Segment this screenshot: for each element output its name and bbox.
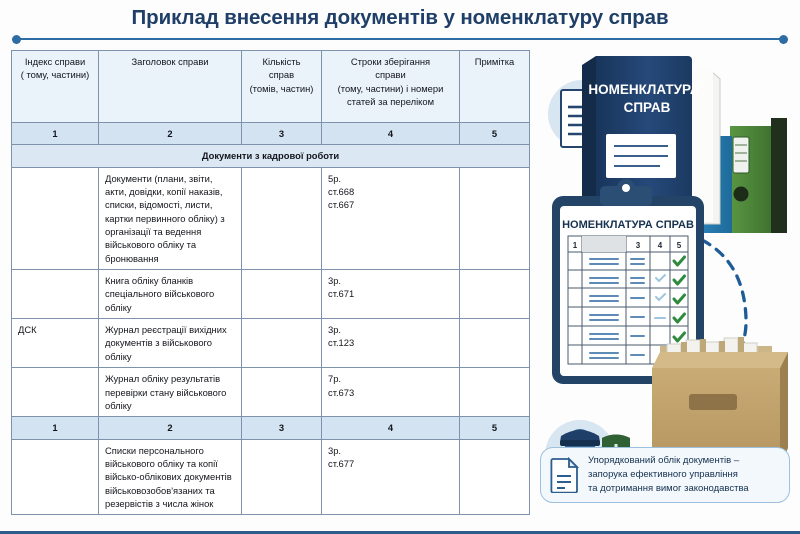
column-number-3: 3: [242, 123, 322, 145]
table-body: Документи з кадрової роботиДокументи (пл…: [12, 145, 530, 515]
table-number-row: 12345: [12, 417, 530, 439]
table-row: Книга обліку бланків спеціального військ…: [12, 270, 530, 319]
cell-terms: 3р.ст.123: [322, 319, 460, 368]
cell-index: [12, 167, 99, 269]
binder-label-line1: НОМЕНКЛАТУРА: [588, 82, 700, 97]
table-number-row: 1 2 3 4 5: [12, 123, 530, 145]
term-line: 7р.: [328, 372, 453, 385]
cell-count: [242, 167, 322, 269]
term-line: ст.677: [328, 457, 453, 470]
clipboard-title: НОМЕНКЛАТУРА СПРАВ: [562, 219, 694, 231]
term-line: ст.671: [328, 287, 453, 300]
title-divider: [12, 35, 788, 44]
summary-callout: Упорядкований облік документів – запорук…: [540, 447, 790, 503]
nomenclature-table: Індекс справи( тому, частини) Заголовок …: [11, 50, 530, 515]
callout-line-1: Упорядкований облік документів –: [588, 454, 749, 468]
binder-green-icon: [730, 118, 787, 233]
table-row: Журнал обліку результатів перевірки стан…: [12, 368, 530, 417]
column-number-4: 4: [322, 123, 460, 145]
column-header-count: Кількістьсправ(томів, частин): [242, 51, 322, 123]
cell-index: [12, 368, 99, 417]
cell-count: [242, 270, 322, 319]
clipboard-col-1: 1: [573, 241, 578, 250]
column-number-1: 1: [12, 123, 99, 145]
divider-dot-right: [779, 35, 788, 44]
cell-terms: 3р.ст.671: [322, 270, 460, 319]
cell-terms: 3р.ст.677: [322, 439, 460, 515]
clipboard-col-5: 5: [677, 241, 682, 250]
cell-terms: 7р.ст.673: [322, 368, 460, 417]
cell-index: [12, 270, 99, 319]
column-number-2: 2: [99, 123, 242, 145]
cell-title: Книга обліку бланків спеціального військ…: [99, 270, 242, 319]
column-header-title: Заголовок справи: [99, 51, 242, 123]
term-line: 3р.: [328, 274, 453, 287]
column-header-index: Індекс справи( тому, частини): [12, 51, 99, 123]
cell-title: Документи (плани, звіти, акти, довідки, …: [99, 167, 242, 269]
term-line: ст.123: [328, 336, 453, 349]
clipboard-col-4: 4: [658, 241, 663, 250]
table-header-row: Індекс справи( тому, частини) Заголовок …: [12, 51, 530, 123]
term-line: ст.673: [328, 386, 453, 399]
callout-line-3: та дотримання вимог законодавства: [588, 482, 749, 496]
column-number-5: 5: [460, 123, 530, 145]
cell-note: [460, 270, 530, 319]
column-number-2: 2: [99, 417, 242, 439]
cell-note: [460, 439, 530, 515]
cell-note: [460, 167, 530, 269]
term-line: 5р.: [328, 172, 453, 185]
term-line: ст.667: [328, 198, 453, 211]
term-line: ст.668: [328, 185, 453, 198]
column-number-5: 5: [460, 417, 530, 439]
divider-bar: [16, 38, 784, 40]
cell-index: ДСК: [12, 319, 99, 368]
clipboard-col-3: 3: [636, 241, 641, 250]
cell-title: Списки персонального військового обліку …: [99, 439, 242, 515]
callout-line-2: запорука ефективного управління: [588, 468, 749, 482]
column-header-note: Примітка: [460, 51, 530, 123]
column-header-terms: Строки зберіганнясправи(тому, частини) і…: [322, 51, 460, 123]
term-line: 3р.: [328, 444, 453, 457]
table-row: Списки персонального військового обліку …: [12, 439, 530, 515]
table-row: Документи (плани, звіти, акти, довідки, …: [12, 167, 530, 269]
table-section-row: Документи з кадрової роботи: [12, 145, 530, 167]
column-number-4: 4: [322, 417, 460, 439]
cell-title: Журнал реєстрації вихідних документів з …: [99, 319, 242, 368]
callout-text: Упорядкований облік документів – запорук…: [588, 454, 749, 496]
cell-count: [242, 319, 322, 368]
cell-title: Журнал обліку результатів перевірки стан…: [99, 368, 242, 417]
section-label: Документи з кадрової роботи: [12, 145, 530, 167]
cell-count: [242, 368, 322, 417]
column-number-3: 3: [242, 417, 322, 439]
cell-terms: 5р.ст.668ст.667: [322, 167, 460, 269]
document-icon: [550, 457, 580, 493]
column-number-1: 1: [12, 417, 99, 439]
term-line: 3р.: [328, 323, 453, 336]
cell-note: [460, 319, 530, 368]
cell-index: [12, 439, 99, 515]
cell-note: [460, 368, 530, 417]
page-title: Приклад внесення документів у номенклату…: [0, 6, 800, 30]
table-row: ДСКЖурнал реєстрації вихідних документів…: [12, 319, 530, 368]
infographic-page: Приклад внесення документів у номенклату…: [0, 0, 800, 534]
binder-label-line2: СПРАВ: [624, 100, 671, 115]
cell-count: [242, 439, 322, 515]
